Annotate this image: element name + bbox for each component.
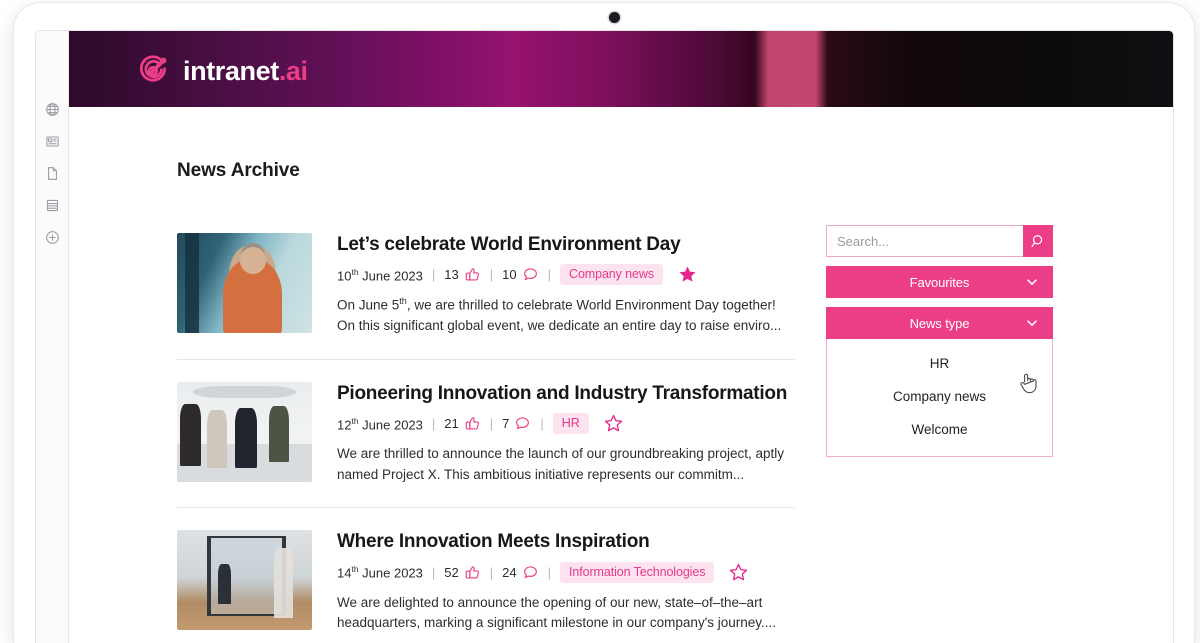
news-meta: 10th June 2023 | 13 | 10 <box>337 264 795 285</box>
like-count: 21 <box>444 416 458 431</box>
meta-separator: | <box>490 565 493 580</box>
comment-count: 10 <box>502 267 516 282</box>
news-tag[interactable]: Company news <box>560 264 663 285</box>
search-row <box>826 225 1053 257</box>
brand-name-accent: .ai <box>279 56 308 86</box>
star-outline-icon[interactable] <box>728 562 749 583</box>
news-item[interactable]: Pioneering Innovation and Industry Trans… <box>177 360 795 508</box>
news-excerpt: On June 5th, we are thrilled to celebrat… <box>337 295 795 337</box>
news-thumbnail <box>177 233 312 333</box>
like-count: 52 <box>444 565 458 580</box>
thumbs-up-icon[interactable] <box>464 415 481 432</box>
brand-logo[interactable]: intranet.ai <box>135 53 308 89</box>
meta-separator: | <box>432 416 435 431</box>
news-tag[interactable]: Information Technologies <box>560 562 714 583</box>
speech-bubble-icon[interactable] <box>522 564 539 581</box>
news-excerpt: We are delighted to announce the opening… <box>337 593 795 634</box>
filter-news-type-options: HR Company news Welcome <box>826 339 1053 457</box>
news-meta: 12th June 2023 | 21 | 7 <box>337 413 795 434</box>
news-date: 14th June 2023 <box>337 564 423 580</box>
star-outline-icon[interactable] <box>603 413 624 434</box>
sidebar-item-news[interactable] <box>36 125 69 157</box>
search-input[interactable] <box>826 225 1023 257</box>
filter-option-company-news[interactable]: Company news <box>827 380 1052 413</box>
app-header: intranet.ai <box>69 31 1174 107</box>
speech-bubble-icon[interactable] <box>522 266 539 283</box>
speech-bubble-icon[interactable] <box>514 415 531 432</box>
news-thumbnail <box>177 530 312 630</box>
front-camera-icon <box>609 12 620 23</box>
news-date: 12th June 2023 <box>337 416 423 432</box>
filter-favourites-label: Favourites <box>910 275 970 290</box>
globe-icon <box>45 102 60 117</box>
meta-separator: | <box>432 267 435 282</box>
meta-separator: | <box>432 565 435 580</box>
comment-count: 24 <box>502 565 516 580</box>
news-list: Let’s celebrate World Environment Day 10… <box>177 211 795 643</box>
filter-news-type-label: News type <box>910 316 970 331</box>
meta-separator: | <box>490 416 493 431</box>
news-tag[interactable]: HR <box>553 413 589 434</box>
filter-sidebar: Favourites News type <box>826 225 1053 466</box>
chevron-down-icon <box>1025 316 1039 330</box>
meta-separator: | <box>548 565 551 580</box>
sidebar-item-add[interactable] <box>36 221 69 253</box>
news-body: Pioneering Innovation and Industry Trans… <box>337 382 795 485</box>
list-stack-icon <box>45 198 60 213</box>
thumbs-up-icon[interactable] <box>464 564 481 581</box>
target-spiral-icon <box>135 53 171 89</box>
news-thumbnail <box>177 382 312 482</box>
sidebar-item-list[interactable] <box>36 189 69 221</box>
news-body: Where Innovation Meets Inspiration 14th … <box>337 530 795 633</box>
news-title[interactable]: Where Innovation Meets Inspiration <box>337 531 795 553</box>
search-button[interactable] <box>1023 225 1053 257</box>
news-title[interactable]: Pioneering Innovation and Industry Trans… <box>337 383 795 405</box>
filter-option-hr[interactable]: HR <box>827 347 1052 380</box>
meta-separator: | <box>490 267 493 282</box>
news-meta: 14th June 2023 | 52 | 24 <box>337 562 795 583</box>
news-card-icon <box>45 134 60 149</box>
comment-count: 7 <box>502 416 509 431</box>
meta-separator: | <box>548 267 551 282</box>
like-count: 13 <box>444 267 458 282</box>
news-title[interactable]: Let’s celebrate World Environment Day <box>337 234 795 256</box>
brand-name-main: intranet <box>183 56 279 86</box>
document-icon <box>45 166 60 181</box>
news-item[interactable]: Where Innovation Meets Inspiration 14th … <box>177 508 795 643</box>
filter-option-welcome[interactable]: Welcome <box>827 413 1052 446</box>
filter-favourites: Favourites <box>826 266 1053 298</box>
filter-news-type: News type HR Company news Welcome <box>826 307 1053 457</box>
meta-separator: | <box>540 416 543 431</box>
news-excerpt: We are thrilled to announce the launch o… <box>337 444 795 485</box>
news-body: Let’s celebrate World Environment Day 10… <box>337 233 795 337</box>
news-item[interactable]: Let’s celebrate World Environment Day 10… <box>177 211 795 360</box>
brand-name: intranet.ai <box>183 56 308 87</box>
page-title: News Archive <box>177 160 300 182</box>
filter-favourites-header[interactable]: Favourites <box>826 266 1053 298</box>
plus-circle-icon <box>45 230 60 245</box>
search-icon <box>1030 233 1047 250</box>
left-rail <box>36 31 69 643</box>
thumbs-up-icon[interactable] <box>464 266 481 283</box>
chevron-down-icon <box>1025 275 1039 289</box>
sidebar-item-globe[interactable] <box>36 93 69 125</box>
news-date: 10th June 2023 <box>337 267 423 283</box>
tablet-device-frame: intranet.ai News Archive Let’s celebrate… <box>14 3 1194 643</box>
filter-news-type-header[interactable]: News type <box>826 307 1053 339</box>
sidebar-item-document[interactable] <box>36 157 69 189</box>
screen-viewport: intranet.ai News Archive Let’s celebrate… <box>35 30 1174 643</box>
star-filled-icon[interactable] <box>677 264 698 285</box>
